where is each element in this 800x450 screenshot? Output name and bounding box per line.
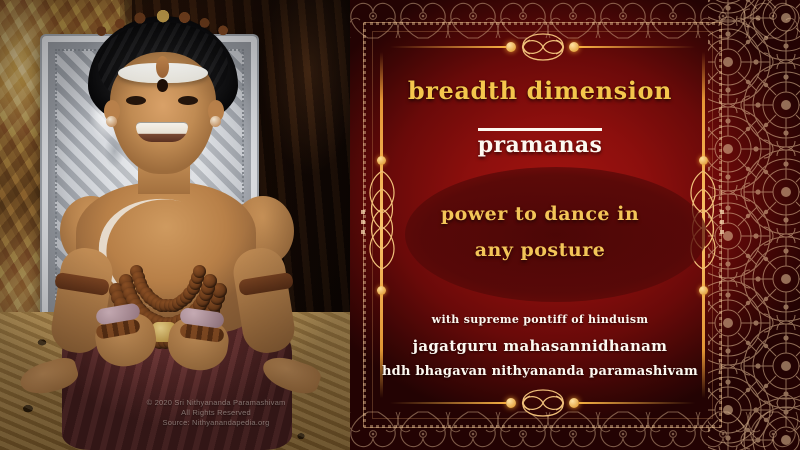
- smiling-mouth: [136, 122, 188, 142]
- guru-portrait-photo: {} © 2020 Sri: [0, 0, 350, 450]
- title-panel: breadth dimension pramanas power to danc…: [350, 0, 800, 450]
- right-eye: [178, 96, 198, 105]
- slide-title-line-2-text: pramanas: [478, 128, 603, 158]
- vertical-flourish-left: [360, 165, 404, 285]
- divider-bar-left: [390, 402, 506, 404]
- divider-knot-ornament: [500, 30, 586, 64]
- seated-figure: {}: [0, 0, 350, 450]
- bindi: [157, 79, 168, 92]
- watermark-line-3: Source: Nithyanandapedia.org: [118, 418, 314, 428]
- bead-crown: [86, 10, 240, 44]
- copyright-watermark: © 2020 Sri Nithyananda Paramashivam All …: [118, 398, 314, 428]
- divider-bar-right: [579, 46, 695, 48]
- divider-knot-ornament: [500, 386, 586, 420]
- horizontal-divider-top: [390, 32, 695, 62]
- horizontal-divider-bottom: [390, 388, 695, 418]
- presentation-slide: {} © 2020 Sri: [0, 0, 800, 450]
- attribution-line-2: hdh bhagavan nithyananda paramashivam: [350, 364, 800, 379]
- divider-bar-right: [579, 402, 695, 404]
- slide-title-line-2: pramanas: [350, 128, 800, 158]
- watermark-line-2: All Rights Reserved: [118, 408, 314, 418]
- attribution-line-1: jagatguru mahasannidhanam: [350, 337, 800, 355]
- rod-knob-bottom-right: [699, 286, 708, 295]
- left-earring: [106, 116, 117, 127]
- watermark-line-1: © 2020 Sri Nithyananda Paramashivam: [118, 398, 314, 408]
- right-earring: [210, 116, 221, 127]
- slide-title-line-1: breadth dimension: [350, 76, 800, 105]
- left-eye: [126, 96, 146, 105]
- text-highlight-ellipse: [405, 167, 707, 302]
- attribution-line-0: with supreme pontiff of hinduism: [350, 313, 800, 326]
- slide-message-line-1: power to dance in: [350, 203, 800, 225]
- slide-message-line-2: any posture: [350, 239, 800, 261]
- divider-bar-left: [390, 46, 506, 48]
- rod-knob-bottom-left: [377, 286, 386, 295]
